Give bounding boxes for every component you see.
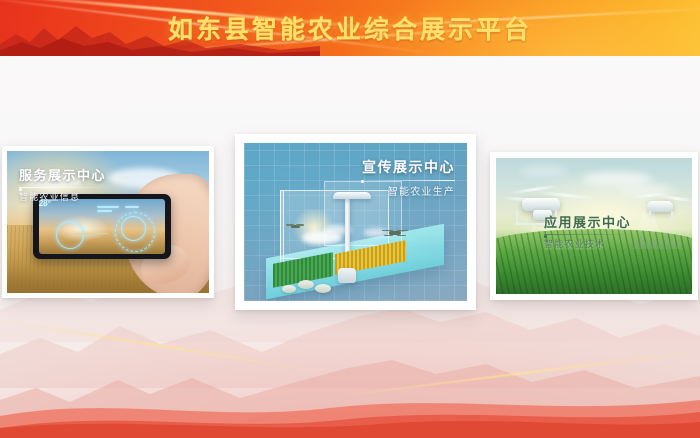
caption-divider: [357, 180, 455, 181]
hud-bar: [125, 206, 139, 208]
card-service-title: 服务展示中心: [19, 165, 111, 184]
phone-screen: 28°: [39, 199, 165, 254]
hud-bar: [97, 206, 119, 208]
city-skyline: [633, 233, 684, 249]
building: [640, 236, 644, 249]
drone-rotor: [296, 224, 304, 225]
card-publicity-caption: 宣传展示中心 智能农业生产: [357, 157, 455, 198]
drone-leg: [671, 211, 673, 220]
card-service-subtitle: 智能农业信息: [19, 190, 111, 203]
background-ridge-deep-red: [0, 414, 700, 438]
card-application-artwork: 应用展示中心 智能农业技术: [496, 158, 692, 294]
hud-bar: [97, 210, 112, 212]
drone-rotor: [397, 230, 408, 231]
caption-divider: [544, 234, 634, 235]
card-publicity-artwork: 宣传展示中心 智能农业生产: [244, 143, 467, 301]
building: [658, 241, 663, 249]
building: [670, 239, 675, 249]
page-title: 如东县智能农业综合展示平台: [0, 0, 700, 56]
building: [634, 240, 638, 249]
caption-divider: [19, 187, 111, 188]
card-application-caption: 应用展示中心 智能农业技术: [544, 212, 634, 250]
drone-rotor: [397, 235, 406, 236]
card-service-caption: 服务展示中心 智能农业信息: [19, 165, 111, 203]
drone-rotor: [384, 235, 393, 236]
card-publicity-display-center[interactable]: 宣传展示中心 智能农业生产: [235, 134, 476, 310]
drone-body: [647, 201, 674, 212]
building: [665, 235, 669, 249]
drone-leg: [649, 211, 651, 220]
storage-tank: [338, 268, 356, 283]
card-service-display-center[interactable]: 28° 服务展示中心 智能农业信息: [2, 146, 214, 298]
smartphone-device: 28°: [33, 194, 170, 259]
building: [652, 238, 656, 249]
drone-icon-left: [286, 222, 304, 231]
building: [645, 242, 650, 250]
drone-large-right-icon: [629, 188, 692, 229]
card-application-title: 应用展示中心: [544, 212, 634, 231]
card-publicity-title: 宣传展示中心: [357, 157, 455, 177]
caption-bullet: [544, 235, 547, 238]
hud-ring-right-inner-icon: [121, 216, 146, 241]
drone-rotor: [382, 230, 393, 231]
header-banner: 如东县智能农业综合展示平台: [0, 0, 700, 56]
card-publicity-subtitle: 智能农业生产: [357, 183, 455, 198]
drone-leg: [516, 210, 518, 224]
caption-bullet: [19, 188, 22, 191]
platform-landing-page: 如东县智能农业综合展示平台: [0, 0, 700, 438]
card-application-display-center[interactable]: 应用展示中心 智能农业技术: [490, 152, 698, 300]
building: [677, 242, 681, 249]
cloud-shape: [520, 166, 568, 176]
drone-icon-right: [382, 227, 408, 240]
hud-ring-left-icon: [56, 221, 84, 249]
hay-bale: [315, 284, 331, 293]
card-application-subtitle: 智能农业技术: [544, 237, 634, 250]
drone-rotor: [286, 224, 294, 225]
caption-bullet: [361, 180, 364, 183]
card-service-artwork: 28° 服务展示中心 智能农业信息: [7, 151, 209, 293]
